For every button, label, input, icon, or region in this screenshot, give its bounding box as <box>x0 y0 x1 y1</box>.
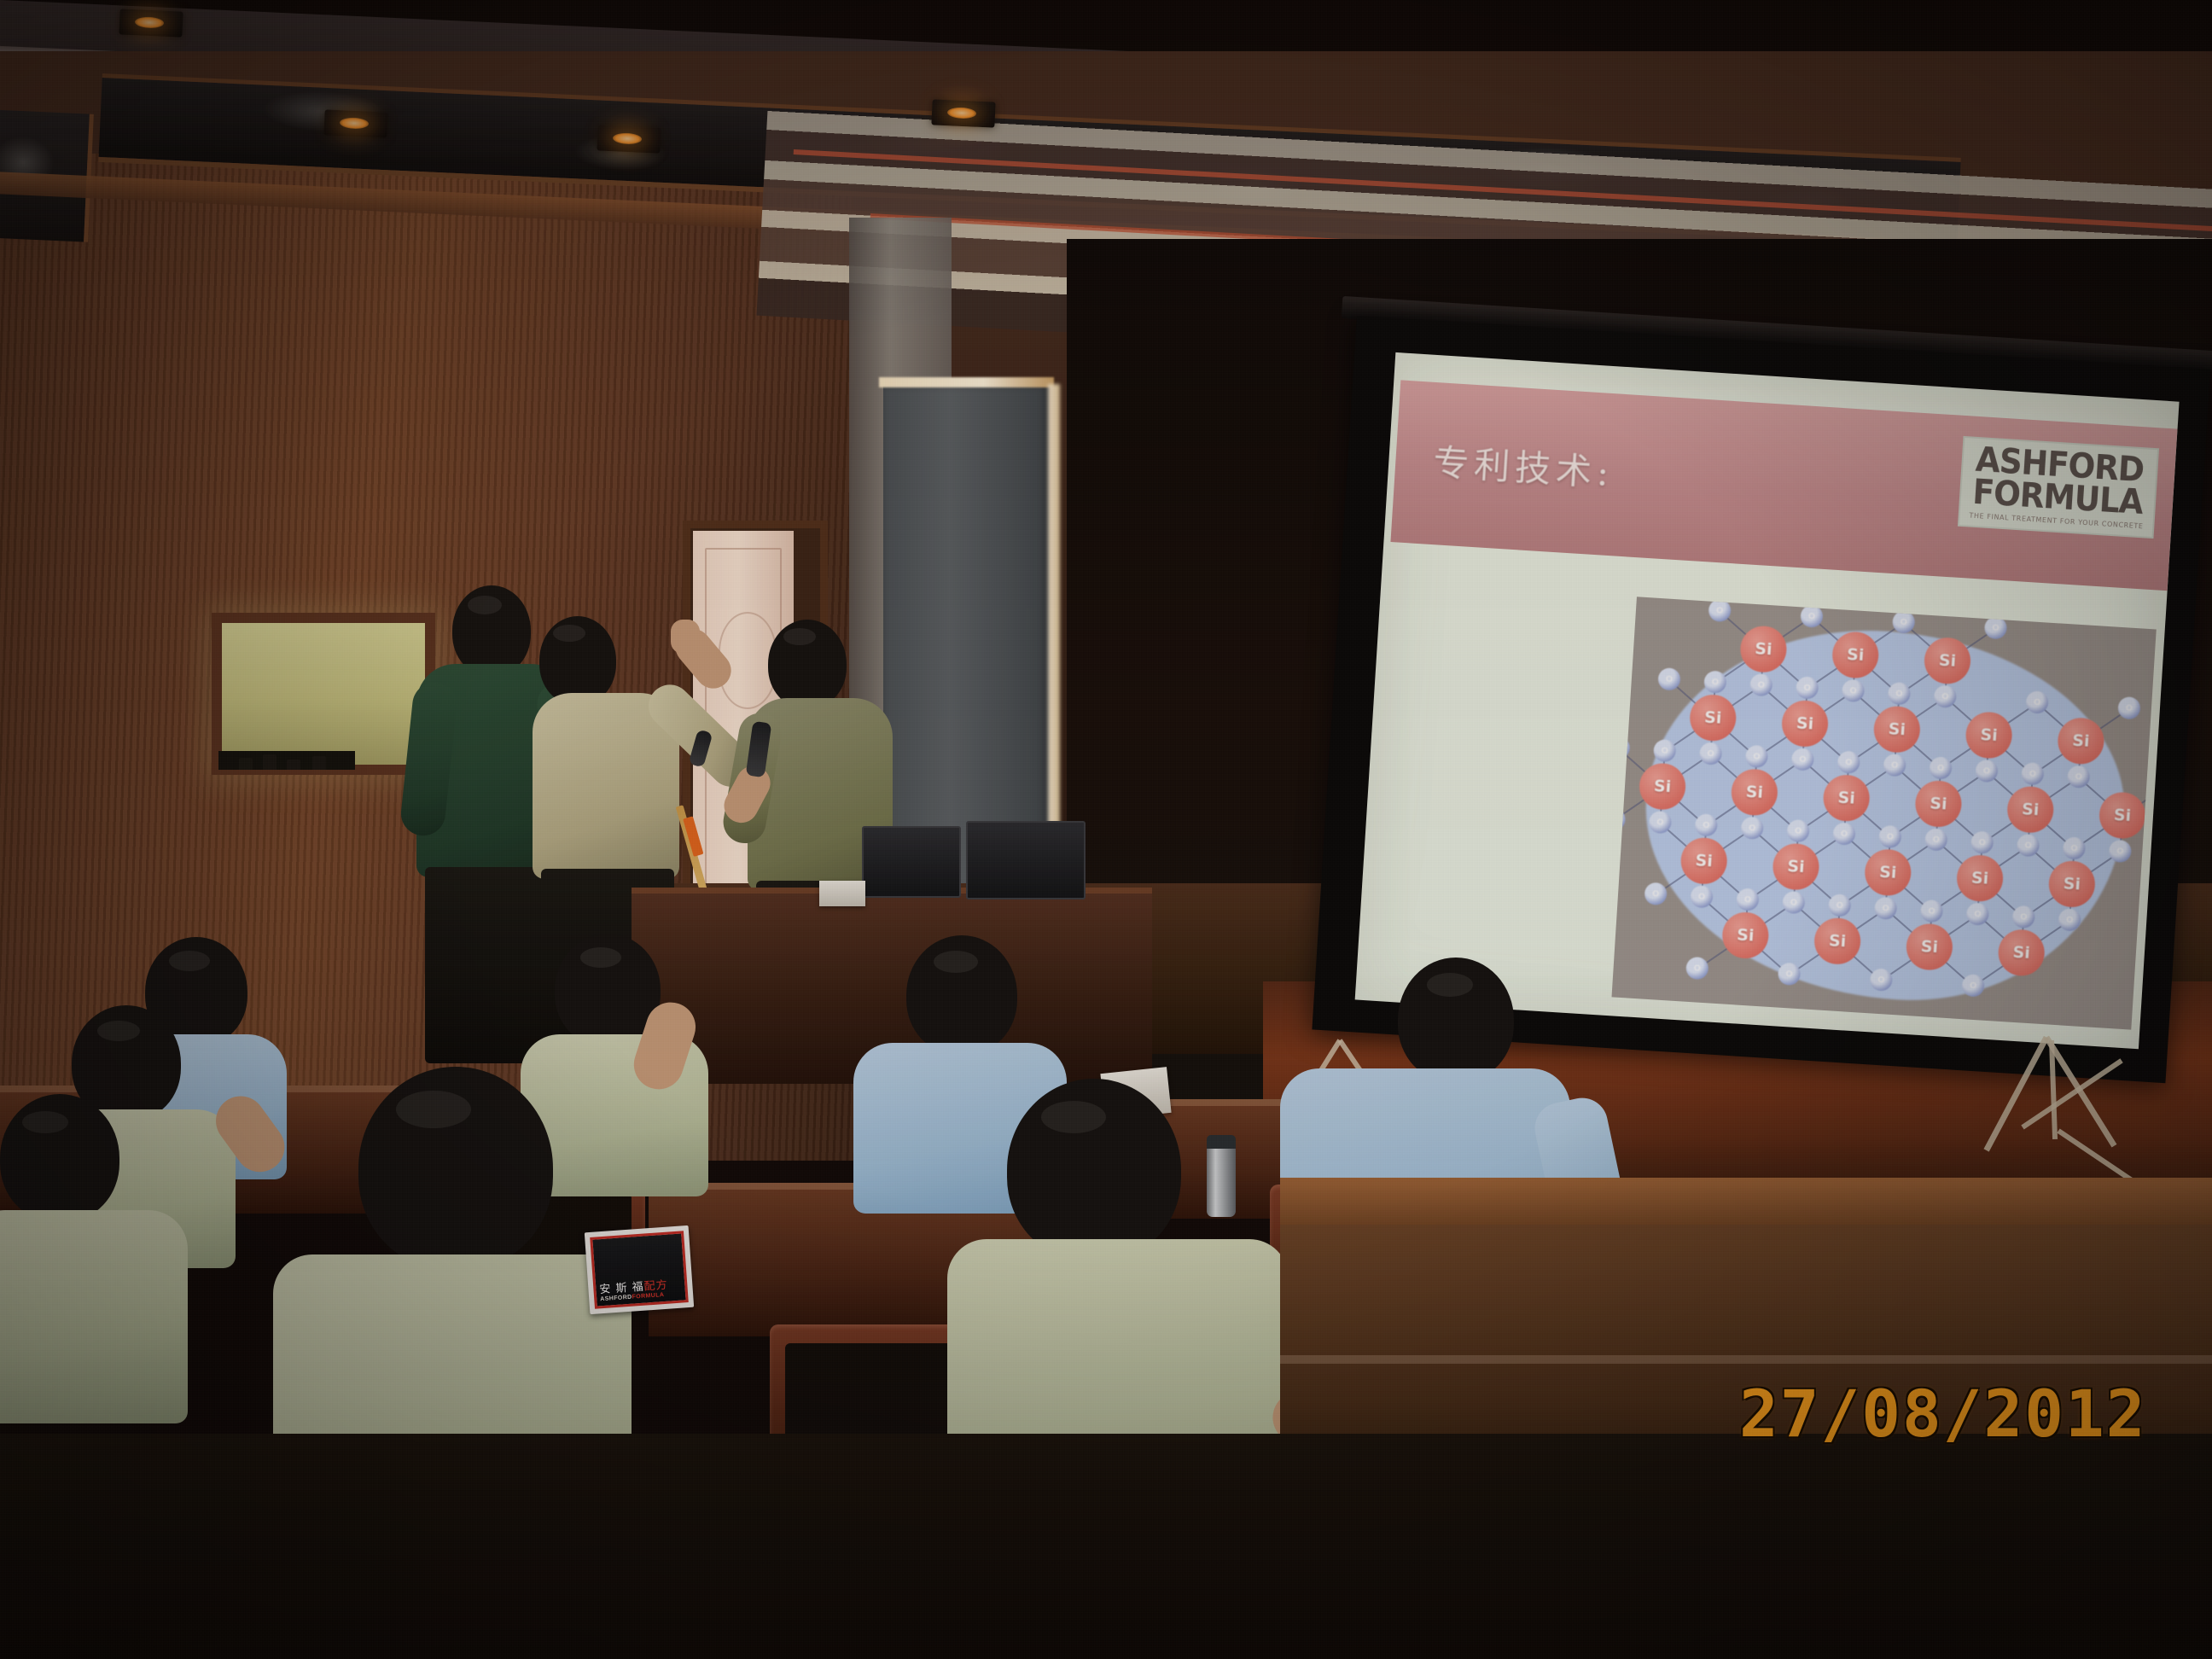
hair-highlight <box>1427 973 1473 997</box>
oxygen-atom: O <box>1644 882 1668 906</box>
hair-highlight <box>580 947 621 968</box>
oxygen-atom: O <box>2117 696 2141 720</box>
curtain-rod-light <box>879 377 1054 387</box>
presenter-head <box>539 616 616 705</box>
audience-head <box>0 1094 119 1222</box>
camera-date-stamp: 27/08/2012 <box>1739 1376 2147 1452</box>
niche-object <box>263 754 276 770</box>
thermos-cap <box>1207 1135 1236 1149</box>
atom-lattice: OOOOOOOOOOOOOOOOOOOOOOOOOOOOOOOOOOOOOOOO… <box>1637 597 2157 629</box>
ceiling-spotlight-icon <box>931 99 995 127</box>
logo-line-2: FORMULA <box>1972 476 2144 519</box>
presenter-head <box>768 620 847 708</box>
ashford-formula-brochure[interactable]: 安 斯 福配方 ASHFORDFORMULA <box>585 1225 694 1314</box>
audience-head <box>358 1067 553 1270</box>
audience-torso <box>0 1210 188 1423</box>
presentation-slide: 专利技术: ASHFORD FORMULA THE FINAL TREATMEN… <box>1355 352 2180 1049</box>
brochure-cover: 安 斯 福配方 ASHFORDFORMULA <box>590 1231 689 1308</box>
presenter-hand-pointing <box>671 620 700 654</box>
oxygen-atom: O <box>1611 807 1626 831</box>
niche-object <box>312 756 326 770</box>
laptop-screen[interactable] <box>862 826 961 898</box>
ceiling-spotlight-icon <box>323 109 387 137</box>
hair-highlight <box>553 625 585 642</box>
ceiling-spotlight-icon <box>597 125 661 153</box>
niche-object <box>287 760 300 770</box>
niche-shelf <box>218 751 355 770</box>
oxygen-atom: O <box>1961 974 1985 998</box>
ceiling-spotlight-icon <box>119 9 183 37</box>
niche-object <box>239 758 253 770</box>
stage-step-top <box>1280 1178 2212 1229</box>
hair-highlight <box>97 1021 140 1041</box>
hair-highlight <box>934 951 978 973</box>
laptop-screen[interactable] <box>966 821 1086 899</box>
floor <box>0 1434 2212 1659</box>
hair-highlight <box>169 951 210 971</box>
oxygen-atom: O <box>1778 963 1802 987</box>
ashford-formula-logo: ASHFORD FORMULA THE FINAL TREATMENT FOR … <box>1958 436 2159 538</box>
audience-head <box>906 935 1017 1055</box>
hair-highlight <box>1041 1101 1106 1133</box>
cup-on-table <box>819 881 865 906</box>
photograph: 专利技术: ASHFORD FORMULA THE FINAL TREATMEN… <box>0 0 2212 1659</box>
oxygen-atom: O <box>2109 840 2133 864</box>
audience-head <box>1398 958 1514 1082</box>
oxygen-atom: O <box>1685 957 1709 981</box>
step-edge-highlight <box>1280 1355 2212 1364</box>
hair-highlight <box>396 1091 471 1128</box>
oxygen-atom: O <box>1984 616 2008 640</box>
oxygen-atom: O <box>2058 908 2081 932</box>
molecular-diagram-panel: OOOOOOOOOOOOOOOOOOOOOOOOOOOOOOOOOOOOOOOO… <box>1611 597 2156 1029</box>
hair-highlight <box>22 1111 68 1133</box>
hair-highlight <box>783 628 816 645</box>
hair-highlight <box>468 596 502 614</box>
presenter-head <box>452 585 531 676</box>
